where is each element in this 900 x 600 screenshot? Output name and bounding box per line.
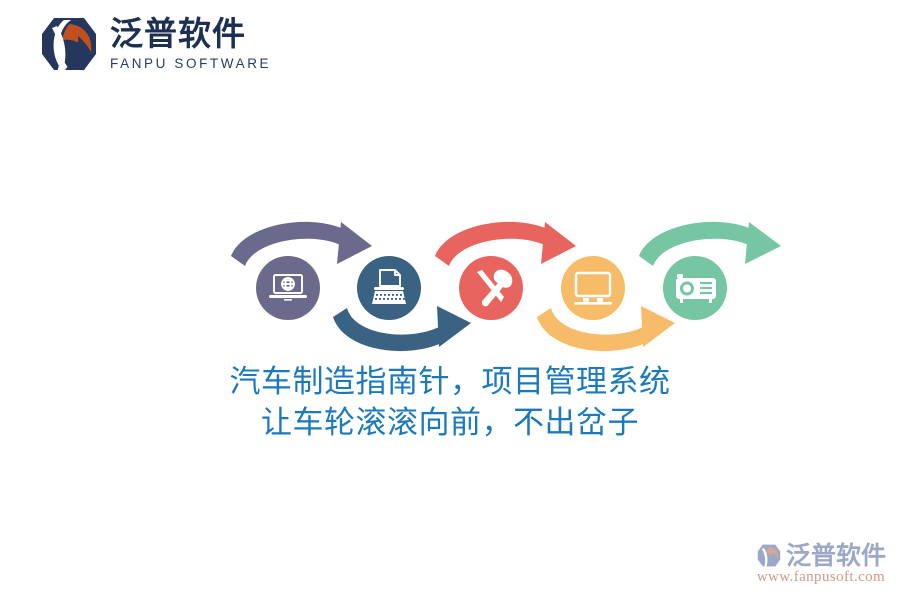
logo-brand-cn: 泛普软件 bbox=[110, 17, 271, 50]
headline-line-1: 汽车制造指南针，项目管理系统 bbox=[0, 362, 900, 403]
projector-icon bbox=[676, 274, 716, 303]
headline-line-2: 让车轮滚滚向前，不出岔子 bbox=[0, 403, 900, 444]
watermark-brand-cn: 泛普软件 bbox=[786, 543, 886, 568]
process-step-5 bbox=[663, 256, 727, 320]
corner-watermark: 泛普软件 www.fanpusoft.com bbox=[756, 543, 886, 586]
step-4-circle bbox=[561, 256, 625, 320]
fanpu-hexagon-logo-icon bbox=[38, 14, 100, 74]
watermark-brand-row: 泛普软件 bbox=[756, 543, 886, 568]
process-step-3 bbox=[459, 256, 523, 320]
curved-arrow-3-icon bbox=[435, 222, 576, 266]
process-step-4 bbox=[561, 256, 625, 320]
process-step-1 bbox=[256, 256, 320, 320]
curved-arrow-5-icon bbox=[639, 222, 781, 266]
logo-wordmark: 泛普软件 FANPU SOFTWARE bbox=[110, 17, 271, 71]
watermark-url: www.fanpusoft.com bbox=[757, 569, 885, 586]
fanpu-hexagon-logo-watermark-icon bbox=[756, 543, 782, 568]
process-flow-graphic bbox=[215, 210, 785, 360]
headline: 汽车制造指南针，项目管理系统 让车轮滚滚向前，不出岔子 bbox=[0, 362, 900, 444]
logo-brand-en: FANPU SOFTWARE bbox=[110, 57, 271, 71]
header-logo: 泛普软件 FANPU SOFTWARE bbox=[38, 14, 271, 74]
process-step-2 bbox=[357, 256, 421, 320]
